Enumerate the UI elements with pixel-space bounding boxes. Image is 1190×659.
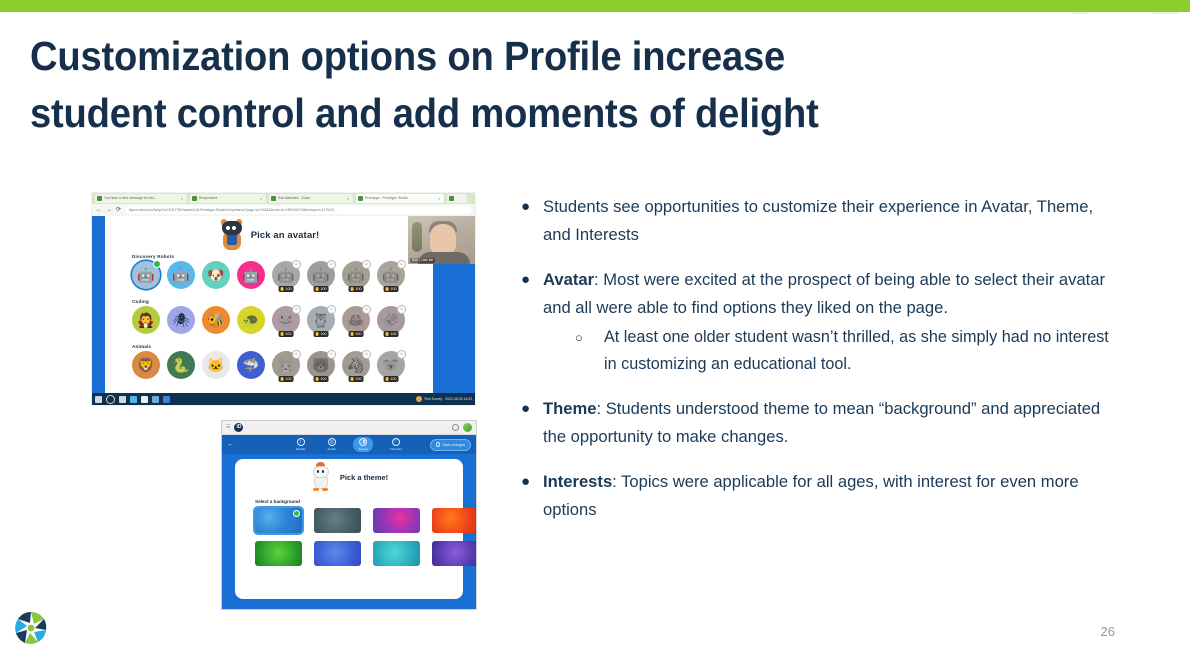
- tray-label: Rori Survey: [425, 396, 443, 402]
- plant-decor: [412, 222, 422, 252]
- lock-icon: ⌂: [292, 350, 301, 359]
- tab-favicon-icon: [192, 196, 197, 201]
- coin-icon: [316, 332, 319, 335]
- browser-tab[interactable]: [447, 194, 467, 203]
- selected-check-icon: [153, 260, 161, 268]
- robot-mascot-icon: [219, 220, 245, 250]
- avatar-price-amount: 100: [390, 376, 396, 382]
- avatar-option[interactable]: 🐍: [167, 351, 195, 379]
- bullet-lead-label: Theme: [543, 399, 596, 418]
- browser-tab-label: You have a new message for this...: [104, 196, 179, 201]
- avatar-price-amount: 100: [285, 331, 291, 337]
- reload-icon[interactable]: ⟳: [116, 207, 121, 213]
- url-input[interactable]: figma.com/proto/3skyvGvC2H177B/HandsOnQ1…: [125, 206, 471, 214]
- back-icon[interactable]: ←: [96, 207, 102, 213]
- avatar-option[interactable]: 🐶: [202, 261, 230, 289]
- lock-icon: ⌂: [292, 305, 301, 314]
- profile-tab-avatar[interactable]: ◎Avatar: [323, 437, 342, 452]
- avatar-glyph-icon: 🤖: [237, 261, 265, 289]
- avatar-image: 🐶: [202, 261, 230, 289]
- bullet-list: ●Students see opportunities to customize…: [513, 193, 1113, 541]
- close-icon[interactable]: ×: [347, 197, 351, 201]
- coin-icon: [386, 287, 389, 290]
- coin-icon: [281, 287, 284, 290]
- browser-tab-strip: You have a new message for this... × Res…: [92, 193, 475, 204]
- save-changes-label: Save changes: [442, 440, 465, 450]
- avatar-price-amount: 100: [285, 376, 291, 382]
- brand-logo: [14, 611, 48, 645]
- avatar-price-badge: 100: [384, 331, 399, 337]
- avatar-option[interactable]: 🐱: [202, 351, 230, 379]
- avatar-section-label: Discovery Robots: [132, 254, 427, 259]
- avatar-price-badge: 100: [314, 286, 329, 292]
- profile-tab-theme[interactable]: ◨Theme: [353, 437, 373, 452]
- tab-icon: i: [297, 438, 305, 446]
- bullet-lead-label: Interests: [543, 472, 612, 491]
- tab-icon: ◎: [328, 438, 336, 446]
- avatar-section-coding: Coding 🧛🕷🐝🐢🐸⌂100🦉⌂100🦀⌂100🦑⌂100: [132, 299, 427, 334]
- zoom-icon[interactable]: [163, 396, 170, 403]
- theme-picker-screenshot: ☰ iD ← iDetails◎Avatar◨Theme♡Interests S…: [221, 420, 477, 610]
- avatar-price-badge: 100: [279, 286, 294, 292]
- lock-icon: ⌂: [362, 260, 371, 269]
- avatar-image: 🐱: [202, 351, 230, 379]
- edge-icon[interactable]: [130, 396, 137, 403]
- explorer-icon[interactable]: [141, 396, 148, 403]
- avatar-picker-screenshot: You have a new message for this... × Res…: [92, 193, 475, 405]
- avatar-glyph-icon: 🦁: [132, 351, 160, 379]
- avatar-image: 🤖: [237, 261, 265, 289]
- webcam-participant-name: Rori | Clark Me: [410, 258, 435, 263]
- avatar-option[interactable]: 🦈: [237, 351, 265, 379]
- avatar-price-badge: 100: [279, 376, 294, 382]
- pick-theme-heading: Pick a theme!: [340, 473, 388, 482]
- profile-navbar: ← iDetails◎Avatar◨Theme♡Interests Save c…: [222, 435, 476, 454]
- avatar-option[interactable]: 🐝: [202, 306, 230, 334]
- avatar-option[interactable]: 🦑⌂100: [377, 306, 405, 334]
- browser-tab[interactable]: Rori Attendee - Zoom ×: [269, 194, 353, 203]
- avatar-option[interactable]: 🕷: [167, 306, 195, 334]
- back-icon[interactable]: ←: [227, 441, 234, 448]
- bullet-marker-icon: ●: [513, 468, 543, 496]
- coin-icon: [351, 332, 354, 335]
- avatar-option[interactable]: 🐻⌂100: [307, 351, 335, 379]
- app-window-chrome: ☰ iD: [222, 421, 476, 435]
- avatar-row: 🧛🕷🐝🐢🐸⌂100🦉⌂100🦀⌂100🦑⌂100: [132, 306, 427, 334]
- avatar-option[interactable]: 🐹⌂100: [272, 351, 300, 379]
- lock-icon: ⌂: [292, 260, 301, 269]
- pick-theme-header: Pick a theme!: [235, 464, 463, 490]
- theme-page-background: Pick a theme! Select a background: [222, 454, 476, 609]
- avatar-option[interactable]: 🤖⌂100: [377, 261, 405, 289]
- avatar-image: 🦈: [237, 351, 265, 379]
- background-tile-orange-red[interactable]: [432, 508, 477, 533]
- coin-icon: [316, 287, 319, 290]
- avatar-image: 🕷: [167, 306, 195, 334]
- lock-icon: ⌂: [327, 260, 336, 269]
- search-icon[interactable]: [106, 395, 115, 404]
- browser-viewport: Pick an avatar! Discovery Robots 🤖🤖🐶🤖🤖⌂1…: [92, 216, 475, 393]
- avatar-section-discovery-robots: Discovery Robots 🤖🤖🐶🤖🤖⌂100🤖⌂100🤖⌂100🤖⌂10…: [132, 254, 427, 289]
- coin-icon: [281, 332, 284, 335]
- avatar-glyph-icon: 🦈: [237, 351, 265, 379]
- bullet-text: Students see opportunities to customize …: [543, 193, 1113, 249]
- avatar-option[interactable]: 🐸⌂100: [272, 306, 300, 334]
- avatar-option[interactable]: 🦉⌂100: [307, 306, 335, 334]
- top-artifact-right: [1152, 12, 1178, 14]
- menu-icon[interactable]: ☰: [226, 425, 230, 430]
- avatar-option[interactable]: 🤖⌂100: [307, 261, 335, 289]
- avatar-price-badge: 100: [314, 376, 329, 382]
- page-title: Customization options on Profile increas…: [30, 28, 969, 142]
- bullet-text: Theme: Students understood theme to mean…: [543, 395, 1113, 451]
- avatar-image: 🤖: [167, 261, 195, 289]
- browser-omnibox-row: ← → ⟳ figma.com/proto/3skyvGvC2H177B/Han…: [92, 204, 475, 216]
- profile-tab-label: Avatar: [328, 447, 337, 451]
- avatar-glyph-icon: 🧛: [132, 306, 160, 334]
- bullet-item: ●Students see opportunities to customize…: [513, 193, 1113, 249]
- profile-tabs: iDetails◎Avatar◨Theme♡Interests: [291, 437, 407, 452]
- avatar-option[interactable]: 🧛: [132, 306, 160, 334]
- avatar-option[interactable]: 🦀⌂100: [342, 306, 370, 334]
- avatar-price-badge: 100: [314, 331, 329, 337]
- lock-icon: ⌂: [397, 350, 406, 359]
- bullet-item: ●Interests: Topics were applicable for a…: [513, 468, 1113, 524]
- avatar-price-badge: 100: [384, 376, 399, 382]
- coin-icon: [386, 377, 389, 380]
- background-tile-teal[interactable]: [373, 541, 420, 566]
- lock-icon: ⌂: [362, 305, 371, 314]
- chrome-icon[interactable]: [152, 396, 159, 403]
- lock-icon: ⌂: [397, 260, 406, 269]
- browser-tab[interactable]: You have a new message for this... ×: [95, 194, 187, 203]
- avatar-option[interactable]: 🤖⌂100: [342, 261, 370, 289]
- avatar-glyph-icon: 🐱: [202, 351, 230, 379]
- bullet-item: ●Theme: Students understood theme to mea…: [513, 395, 1113, 451]
- lock-icon: ⌂: [327, 350, 336, 359]
- background-tile-slate-grey[interactable]: [314, 508, 361, 533]
- browser-tab-label: Prototype - Prototype Studio: [365, 196, 436, 201]
- tray-badge-icon: [416, 396, 422, 402]
- avatar-price-badge: 100: [349, 376, 364, 382]
- avatar-glyph-icon: 🐝: [202, 306, 230, 334]
- save-changes-button[interactable]: Save changes: [430, 439, 471, 451]
- selected-check-icon: [293, 510, 300, 517]
- browser-tab-label: Respondent: [199, 196, 258, 201]
- lock-icon: ⌂: [327, 305, 336, 314]
- avatar-glyph-icon: 🕷: [167, 306, 195, 334]
- coin-icon: [351, 377, 354, 380]
- tab-icon: ♡: [392, 438, 400, 446]
- avatar-price-amount: 100: [390, 286, 396, 292]
- background-tile-green[interactable]: [255, 541, 302, 566]
- avatar-glyph-icon: 🐢: [237, 306, 265, 334]
- avatar-price-amount: 100: [285, 286, 291, 292]
- pick-avatar-header: Pick an avatar!: [105, 220, 433, 250]
- avatar-row: 🤖🤖🐶🤖🤖⌂100🤖⌂100🤖⌂100🤖⌂100: [132, 261, 427, 289]
- webcam-face: [430, 224, 456, 254]
- profile-tab-details[interactable]: iDetails: [291, 437, 310, 452]
- taskbar-tray: Rori Survey 2022-08-03 14:22: [416, 396, 473, 402]
- avatar-price-badge: 100: [384, 286, 399, 292]
- top-artifact-left: [1072, 12, 1088, 14]
- avatar-price-amount: 100: [355, 376, 361, 382]
- task-view-icon[interactable]: [119, 396, 126, 403]
- webcam-edge-filler: [447, 264, 475, 282]
- avatar-option[interactable]: 🐨⌂100: [377, 351, 405, 379]
- avatar-image: 🐝: [202, 306, 230, 334]
- browser-tab-active[interactable]: Prototype - Prototype Studio ×: [356, 194, 444, 203]
- bullet-text: Interests: Topics were applicable for al…: [543, 468, 1113, 524]
- avatar-image: 🦁: [132, 351, 160, 379]
- save-icon: [436, 442, 441, 447]
- tab-favicon-icon: [271, 196, 276, 201]
- bullet-marker-icon: ●: [513, 395, 543, 423]
- coin-icon: [386, 332, 389, 335]
- background-tile-magenta-purple[interactable]: [373, 508, 420, 533]
- coin-icon: [281, 377, 284, 380]
- bullet-item: ●Avatar: Most were excited at the prospe…: [513, 266, 1113, 378]
- close-icon[interactable]: ×: [260, 197, 264, 201]
- lock-icon: ⌂: [362, 350, 371, 359]
- taskbar-clock: 2022-08-03 14:22: [445, 396, 472, 402]
- profile-tab-label: Theme: [358, 447, 368, 451]
- avatar-row: 🦁🐍🐱🦈🐹⌂100🐻⌂100🦓⌂100🐨⌂100: [132, 351, 427, 379]
- coin-icon: [316, 377, 319, 380]
- avatar-image: 🐍: [167, 351, 195, 379]
- bullet-marker-icon: ●: [513, 266, 543, 294]
- webcam-video-overlay: Rori | Clark Me: [408, 216, 475, 264]
- background-tile-blue-sky[interactable]: [255, 508, 302, 533]
- profile-tab-label: Details: [296, 447, 305, 451]
- avatar-price-amount: 100: [320, 331, 326, 337]
- avatar-price-amount: 100: [320, 286, 326, 292]
- sub-bullet-item: ○At least one older student wasn’t thril…: [575, 324, 1113, 378]
- tab-favicon-icon: [358, 196, 363, 201]
- background-tile-grid: [255, 508, 477, 566]
- forward-icon[interactable]: →: [106, 207, 112, 213]
- avatar-page-card: Pick an avatar! Discovery Robots 🤖🤖🐶🤖🤖⌂1…: [105, 216, 433, 393]
- app-logo: iD: [234, 423, 243, 432]
- profile-tab-interests[interactable]: ♡Interests: [385, 437, 407, 452]
- search-icon[interactable]: [452, 424, 459, 431]
- avatar-glyph-icon: 🐍: [167, 351, 195, 379]
- top-accent-bar: [0, 0, 1190, 12]
- windows-taskbar: Rori Survey 2022-08-03 14:22: [92, 393, 475, 405]
- lock-icon: ⌂: [397, 305, 406, 314]
- chrome-right-group: [452, 423, 472, 432]
- bullet-text: Avatar: Most were excited at the prospec…: [543, 266, 1113, 378]
- pick-avatar-heading: Pick an avatar!: [251, 230, 320, 241]
- bullet-marker-icon: ●: [513, 193, 543, 221]
- avatar-price-badge: 100: [349, 286, 364, 292]
- avatar-glyph-icon: 🐶: [202, 261, 230, 289]
- browser-tab-label: Rori Attendee - Zoom: [278, 196, 345, 201]
- avatar-option[interactable]: 🤖: [167, 261, 195, 289]
- avatar-option[interactable]: 🐢: [237, 306, 265, 334]
- chicken-mascot-icon: [310, 464, 332, 490]
- avatar-price-amount: 100: [355, 331, 361, 337]
- select-background-label: Select a background: [255, 499, 300, 504]
- avatar-image: 🧛: [132, 306, 160, 334]
- close-icon[interactable]: ×: [181, 197, 185, 201]
- tab-favicon-icon: [97, 196, 102, 201]
- close-icon[interactable]: ×: [438, 197, 442, 201]
- background-tile-royal-blue[interactable]: [314, 541, 361, 566]
- avatar-section-label: Coding: [132, 299, 427, 304]
- tab-icon: ◨: [359, 438, 367, 446]
- bullet-lead-label: Avatar: [543, 270, 594, 289]
- start-icon[interactable]: [95, 396, 102, 403]
- avatar[interactable]: [463, 423, 472, 432]
- tab-favicon-icon: [449, 196, 454, 201]
- avatar-price-amount: 100: [355, 286, 361, 292]
- browser-tab[interactable]: Respondent ×: [190, 194, 266, 203]
- theme-page-card: Pick a theme! Select a background: [235, 459, 463, 599]
- sub-bullet-text: At least one older student wasn’t thrill…: [604, 324, 1113, 378]
- avatar-glyph-icon: 🤖: [167, 261, 195, 289]
- avatar-price-badge: 100: [279, 331, 294, 337]
- avatar-option[interactable]: 🤖: [132, 261, 160, 289]
- avatar-option[interactable]: 🦁: [132, 351, 160, 379]
- avatar-price-amount: 100: [390, 331, 396, 337]
- avatar-section-label: Animals: [132, 344, 427, 349]
- avatar-price-amount: 100: [320, 376, 326, 382]
- avatar-image: 🐢: [237, 306, 265, 334]
- avatar-option[interactable]: 🤖: [237, 261, 265, 289]
- page-number: 26: [1101, 624, 1115, 639]
- sub-bullet-marker-icon: ○: [575, 324, 604, 351]
- avatar-option[interactable]: 🦓⌂100: [342, 351, 370, 379]
- background-tile-deep-purple[interactable]: [432, 541, 477, 566]
- coin-icon: [351, 287, 354, 290]
- avatar-option[interactable]: 🤖⌂100: [272, 261, 300, 289]
- avatar-price-badge: 100: [349, 331, 364, 337]
- profile-tab-label: Interests: [390, 447, 402, 451]
- avatar-section-animals: Animals 🦁🐍🐱🦈🐹⌂100🐻⌂100🦓⌂100🐨⌂100: [132, 344, 427, 379]
